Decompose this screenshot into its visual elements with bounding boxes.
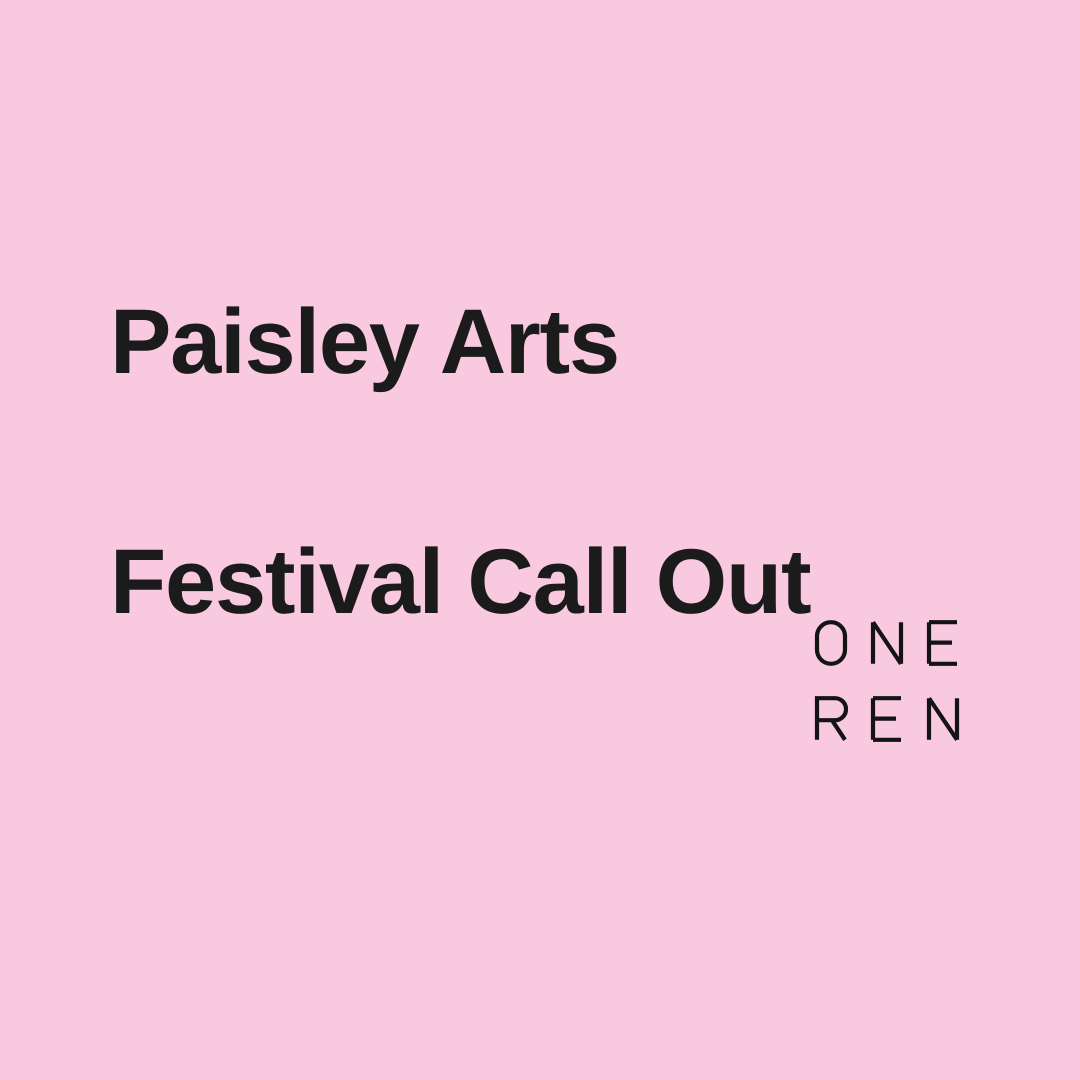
logo-letter-o-icon bbox=[808, 620, 864, 666]
logo-row-one bbox=[808, 620, 976, 666]
poster-canvas: Paisley Arts Festival Call Out bbox=[0, 0, 1080, 1080]
logo-letter-n-2-icon bbox=[920, 696, 976, 742]
logo-letter-e-icon bbox=[920, 620, 976, 666]
logo-letter-r-icon bbox=[808, 696, 864, 742]
logo-letter-n-icon bbox=[864, 620, 920, 666]
logo-row-ren bbox=[808, 696, 976, 742]
logo-letter-e-2-icon bbox=[864, 696, 920, 742]
one-ren-logo bbox=[808, 620, 976, 742]
headline-line-1: Paisley Arts bbox=[110, 282, 970, 402]
